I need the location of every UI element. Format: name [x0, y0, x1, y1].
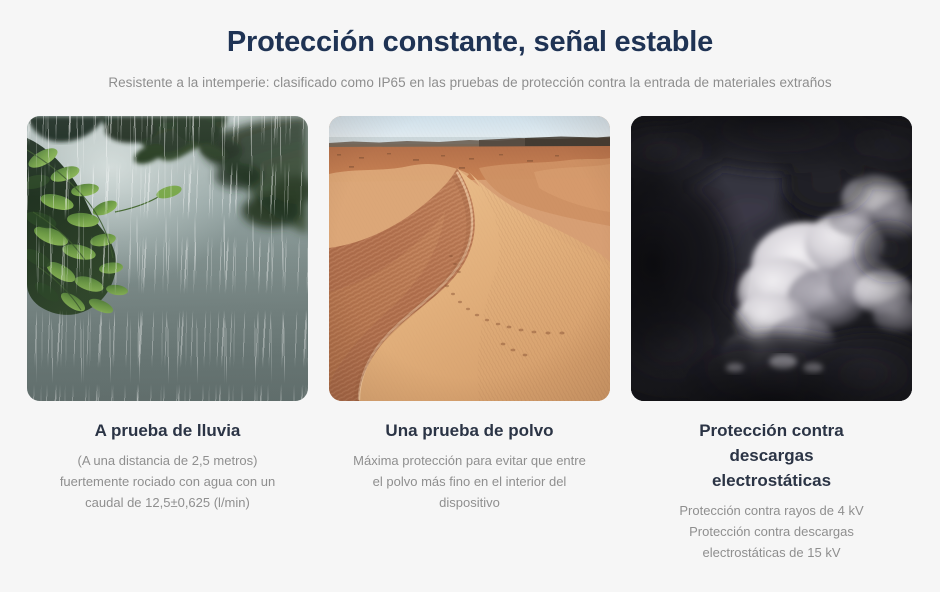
- feature-section: Protección constante, señal estable Resi…: [0, 0, 940, 592]
- feature-card-dustproof: Una prueba de polvo Máxima protección pa…: [329, 116, 610, 563]
- page-subtitle: Resistente a la intemperie: clasificado …: [0, 74, 940, 92]
- rain-image: [27, 116, 308, 401]
- card-title: Una prueba de polvo: [385, 418, 553, 443]
- feature-card-list: A prueba de lluvia (A una distancia de 2…: [27, 116, 913, 563]
- storm-cloud-image: [631, 116, 912, 401]
- card-description: Protección contra rayos de 4 kV Protecci…: [662, 500, 882, 563]
- storm-scene: [631, 116, 912, 401]
- feature-card-rainproof: A prueba de lluvia (A una distancia de 2…: [27, 116, 308, 563]
- page-title: Protección constante, señal estable: [0, 24, 940, 60]
- rain-haze-layer: [27, 116, 308, 401]
- rain-scene: [27, 116, 308, 401]
- card-title: Protección contra descargas electrostáti…: [672, 418, 872, 493]
- section-header: Protección constante, señal estable Resi…: [0, 0, 940, 92]
- desert-vignette: [329, 116, 610, 401]
- card-description: (A una distancia de 2,5 metros) fuerteme…: [50, 450, 285, 513]
- desert-scene: [329, 116, 610, 401]
- card-description: Máxima protección para evitar que entre …: [352, 450, 587, 513]
- card-title: A prueba de lluvia: [95, 418, 241, 443]
- desert-image: [329, 116, 610, 401]
- storm-vignette: [631, 116, 912, 401]
- feature-card-esd-protection: Protección contra descargas electrostáti…: [631, 116, 912, 563]
